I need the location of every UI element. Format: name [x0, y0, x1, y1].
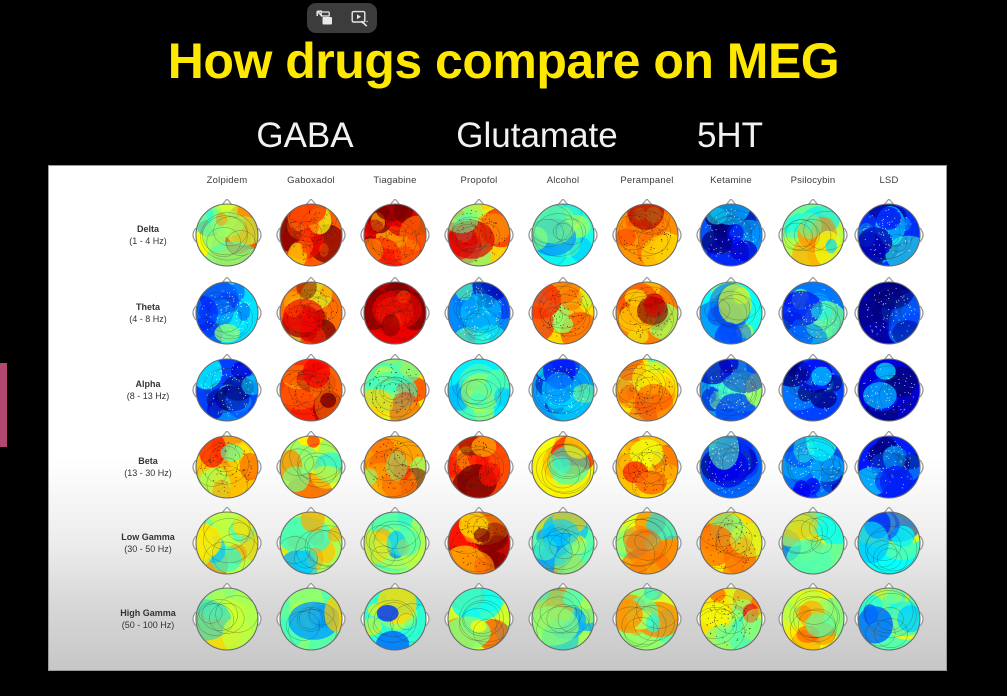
- topoplot-propofol-high-gamma: [443, 583, 515, 655]
- topoplot-alcohol-high-gamma: [527, 583, 599, 655]
- row-band-name: Alpha: [93, 378, 203, 390]
- topoplot-perampanel-alpha: [611, 354, 683, 426]
- topoplot-lsd-beta: [853, 431, 925, 503]
- topoplot-propofol-theta: [443, 277, 515, 349]
- topoplot-lsd-theta: [853, 277, 925, 349]
- topoplot-lsd-delta: [853, 199, 925, 271]
- column-header-perampanel: Perampanel: [620, 175, 673, 186]
- topoplot-tiagabine-beta: [359, 431, 431, 503]
- topoplot-ketamine-high-gamma: [695, 583, 767, 655]
- topoplot-psilocybin-high-gamma: [777, 583, 849, 655]
- pink-edge-strip: [0, 363, 7, 447]
- topoplot-gaboxadol-low-gamma: [275, 507, 347, 579]
- topoplot-propofol-alpha: [443, 354, 515, 426]
- topoplot-ketamine-beta: [695, 431, 767, 503]
- row-band-name: Low Gamma: [93, 531, 203, 543]
- topoplot-psilocybin-beta: [777, 431, 849, 503]
- row-band-range: (8 - 13 Hz): [93, 390, 203, 402]
- row-band-name: Theta: [93, 301, 203, 313]
- topoplot-alcohol-theta: [527, 277, 599, 349]
- topoplot-propofol-low-gamma: [443, 507, 515, 579]
- row-band-name: Beta: [93, 455, 203, 467]
- topoplot-lsd-low-gamma: [853, 507, 925, 579]
- topoplot-gaboxadol-theta: [275, 277, 347, 349]
- topoplot-perampanel-low-gamma: [611, 507, 683, 579]
- topoplot-gaboxadol-delta: [275, 199, 347, 271]
- topoplot-alcohol-low-gamma: [527, 507, 599, 579]
- topoplot-ketamine-theta: [695, 277, 767, 349]
- row-band-range: (4 - 8 Hz): [93, 313, 203, 325]
- topoplot-propofol-delta: [443, 199, 515, 271]
- topoplot-tiagabine-low-gamma: [359, 507, 431, 579]
- topoplot-ketamine-delta: [695, 199, 767, 271]
- topoplot-psilocybin-delta: [777, 199, 849, 271]
- topoplot-perampanel-delta: [611, 199, 683, 271]
- topoplot-lsd-high-gamma: [853, 583, 925, 655]
- miniplayer-button[interactable]: [312, 6, 338, 30]
- column-header-zolpidem: Zolpidem: [207, 175, 248, 186]
- column-header-tiagabine: Tiagabine: [373, 175, 416, 186]
- topoplot-zolpidem-high-gamma: [191, 583, 263, 655]
- row-header-low-gamma: Low Gamma(30 - 50 Hz): [93, 531, 203, 555]
- topoplot-alcohol-beta: [527, 431, 599, 503]
- topoplot-gaboxadol-high-gamma: [275, 583, 347, 655]
- topoplot-alcohol-alpha: [527, 354, 599, 426]
- section-label-5ht: 5HT: [697, 116, 763, 156]
- section-label-gaba: GABA: [256, 116, 353, 156]
- column-header-ketamine: Ketamine: [710, 175, 752, 186]
- topoplot-gaboxadol-alpha: [275, 354, 347, 426]
- topoplot-gaboxadol-beta: [275, 431, 347, 503]
- column-header-lsd: LSD: [879, 175, 898, 186]
- topoplot-zolpidem-low-gamma: [191, 507, 263, 579]
- topoplot-psilocybin-low-gamma: [777, 507, 849, 579]
- topoplot-psilocybin-theta: [777, 277, 849, 349]
- topoplot-alcohol-delta: [527, 199, 599, 271]
- topoplot-tiagabine-theta: [359, 277, 431, 349]
- topoplot-zolpidem-delta: [191, 199, 263, 271]
- section-label-glutamate: Glutamate: [456, 116, 617, 156]
- topoplot-ketamine-low-gamma: [695, 507, 767, 579]
- row-band-name: Delta: [93, 223, 203, 235]
- topoplot-propofol-beta: [443, 431, 515, 503]
- video-overlay-toolbar: [307, 3, 377, 33]
- column-header-psilocybin: Psilocybin: [791, 175, 836, 186]
- column-header-alcohol: Alcohol: [547, 175, 580, 186]
- topoplot-tiagabine-alpha: [359, 354, 431, 426]
- topoplot-tiagabine-delta: [359, 199, 431, 271]
- slide-stage: How drugs compare on MEG GABAGlutamate5H…: [0, 0, 1007, 696]
- topoplot-zolpidem-alpha: [191, 354, 263, 426]
- row-band-range: (1 - 4 Hz): [93, 235, 203, 247]
- video-effects-button[interactable]: [347, 6, 373, 30]
- row-header-delta: Delta(1 - 4 Hz): [93, 223, 203, 247]
- topoplot-zolpidem-theta: [191, 277, 263, 349]
- row-band-range: (30 - 50 Hz): [93, 543, 203, 555]
- topoplot-zolpidem-beta: [191, 431, 263, 503]
- row-header-high-gamma: High Gamma(50 - 100 Hz): [93, 607, 203, 631]
- topoplot-perampanel-beta: [611, 431, 683, 503]
- topoplot-perampanel-theta: [611, 277, 683, 349]
- row-header-alpha: Alpha(8 - 13 Hz): [93, 378, 203, 402]
- row-header-beta: Beta(13 - 30 Hz): [93, 455, 203, 479]
- row-band-range: (50 - 100 Hz): [93, 619, 203, 631]
- topoplot-lsd-alpha: [853, 354, 925, 426]
- topoplot-perampanel-high-gamma: [611, 583, 683, 655]
- topoplot-tiagabine-high-gamma: [359, 583, 431, 655]
- row-band-range: (13 - 30 Hz): [93, 467, 203, 479]
- meg-topoplot-figure: ZolpidemGaboxadolTiagabinePropofolAlcoho…: [48, 165, 947, 671]
- column-header-gaboxadol: Gaboxadol: [287, 175, 335, 186]
- column-header-propofol: Propofol: [461, 175, 498, 186]
- row-header-theta: Theta(4 - 8 Hz): [93, 301, 203, 325]
- topoplot-psilocybin-alpha: [777, 354, 849, 426]
- topoplot-ketamine-alpha: [695, 354, 767, 426]
- page-title: How drugs compare on MEG: [0, 31, 1007, 91]
- row-band-name: High Gamma: [93, 607, 203, 619]
